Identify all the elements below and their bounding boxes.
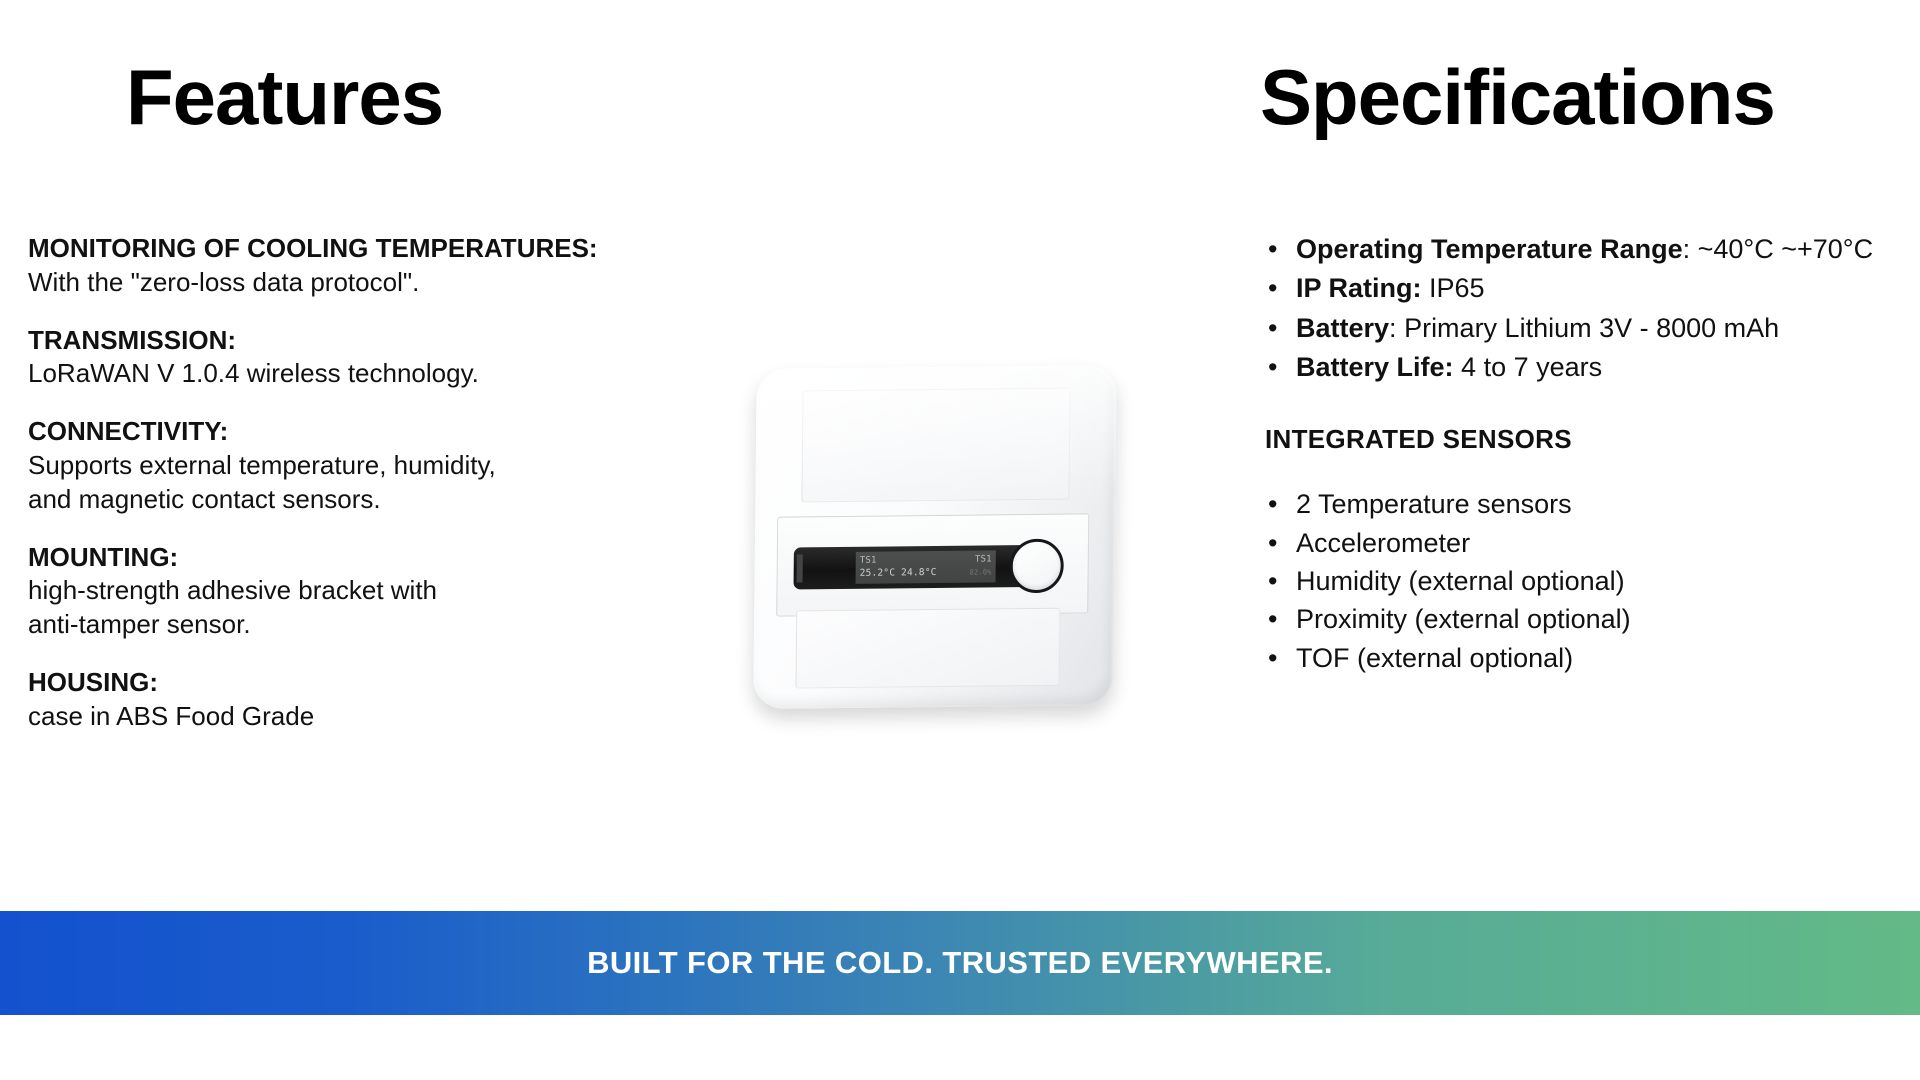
bullet-icon: • (1268, 600, 1277, 638)
sensor-item-humidity: • Humidity (external optional) (1262, 562, 1882, 600)
spec-key: Operating Temperature Range (1296, 234, 1683, 264)
device-display-panel: TS1 TS1 25.2°C 24.8°C 82.0% (776, 513, 1089, 616)
spec-separator (1454, 352, 1462, 382)
feature-block-transmission: TRANSMISSION: LoRaWAN V 1.0.4 wireless t… (28, 324, 728, 392)
specifications-heading: Specifications (1260, 58, 1775, 136)
spec-item-battery: • Battery: Primary Lithium 3V - 8000 mAh (1262, 309, 1882, 347)
device-lcd-tab (797, 554, 803, 582)
sensor-item-proximity: • Proximity (external optional) (1262, 600, 1882, 638)
spec-separator: : (1389, 313, 1404, 343)
bullet-icon: • (1268, 524, 1277, 562)
specifications-content: • Operating Temperature Range: ~40°C ~+7… (1262, 230, 1882, 677)
feature-block-connectivity: CONNECTIVITY: Supports external temperat… (28, 415, 728, 516)
tagline-text: BUILT FOR THE COLD. TRUSTED EVERYWHERE. (587, 945, 1333, 981)
feature-block-mounting: MOUNTING: high-strength adhesive bracket… (28, 541, 728, 642)
lcd-humidity-readout: 82.0% (969, 568, 991, 577)
feature-label: MONITORING OF COOLING TEMPERATURES: (28, 232, 728, 266)
device-push-button[interactable] (1009, 539, 1064, 594)
device-bottom-panel (795, 608, 1060, 689)
sensor-label: Humidity (external optional) (1296, 566, 1625, 596)
spec-value: ~40°C ~+70°C (1698, 234, 1873, 264)
bullet-icon: • (1268, 485, 1277, 523)
feature-description: high-strength adhesive bracket with anti… (28, 574, 728, 642)
features-list: MONITORING OF COOLING TEMPERATURES: With… (28, 232, 728, 734)
integrated-sensors-heading: INTEGRATED SENSORS (1265, 424, 1882, 455)
sensor-item-tof: • TOF (external optional) (1262, 639, 1882, 677)
spec-item-operating-temperature: • Operating Temperature Range: ~40°C ~+7… (1262, 230, 1882, 268)
spec-value: IP65 (1429, 273, 1485, 303)
bullet-icon: • (1268, 562, 1277, 600)
sensor-label: Proximity (external optional) (1296, 604, 1631, 634)
feature-label: MOUNTING: (28, 541, 728, 575)
spec-value: 4 to 7 years (1461, 352, 1602, 382)
sensor-item-temperature: • 2 Temperature sensors (1262, 485, 1882, 523)
feature-description: LoRaWAN V 1.0.4 wireless technology. (28, 357, 728, 391)
feature-description: case in ABS Food Grade (28, 700, 728, 734)
device-top-panel (801, 388, 1070, 503)
bullet-icon: • (1268, 269, 1277, 307)
spec-key: Battery (1296, 313, 1389, 343)
lcd-temperature-readout: 25.2°C 24.8°C (860, 567, 937, 580)
device-lcd-bar: TS1 TS1 25.2°C 24.8°C 82.0% (793, 545, 1029, 589)
feature-label: CONNECTIVITY: (28, 415, 728, 449)
feature-block-monitoring: MONITORING OF COOLING TEMPERATURES: With… (28, 232, 728, 300)
spec-value: Primary Lithium 3V - 8000 mAh (1404, 313, 1779, 343)
sensor-label: 2 Temperature sensors (1296, 489, 1572, 519)
specifications-list: • Operating Temperature Range: ~40°C ~+7… (1262, 230, 1882, 386)
feature-label: HOUSING: (28, 666, 728, 700)
spec-key: Battery Life: (1296, 352, 1454, 382)
sensor-label: Accelerometer (1296, 528, 1470, 558)
spec-item-ip-rating: • IP Rating: IP65 (1262, 269, 1882, 307)
spec-item-battery-life: • Battery Life: 4 to 7 years (1262, 348, 1882, 386)
device-image: TS1 TS1 25.2°C 24.8°C 82.0% (745, 355, 1205, 805)
bullet-icon: • (1268, 348, 1277, 386)
bullet-icon: • (1268, 309, 1277, 347)
device-lcd-screen: TS1 TS1 25.2°C 24.8°C 82.0% (856, 550, 996, 583)
spec-key: IP Rating: (1296, 273, 1422, 303)
spec-separator (1422, 273, 1430, 303)
spec-separator: : (1683, 234, 1698, 264)
device-enclosure: TS1 TS1 25.2°C 24.8°C 82.0% (753, 365, 1117, 709)
feature-block-housing: HOUSING: case in ABS Food Grade (28, 666, 728, 734)
feature-description: With the "zero-loss data protocol". (28, 266, 728, 300)
sensor-label: TOF (external optional) (1296, 643, 1573, 673)
features-heading: Features (126, 58, 443, 136)
tagline-banner: BUILT FOR THE COLD. TRUSTED EVERYWHERE. (0, 911, 1920, 1015)
lcd-top-left-label: TS1 (860, 556, 877, 567)
bullet-icon: • (1268, 639, 1277, 677)
integrated-sensors-list: • 2 Temperature sensors • Accelerometer … (1262, 485, 1882, 677)
slide-canvas: Features MONITORING OF COOLING TEMPERATU… (0, 0, 1920, 1080)
bullet-icon: • (1268, 230, 1277, 268)
sensor-item-accelerometer: • Accelerometer (1262, 524, 1882, 562)
feature-description: Supports external temperature, humidity,… (28, 449, 728, 517)
feature-label: TRANSMISSION: (28, 324, 728, 358)
lcd-top-right-label: TS1 (975, 555, 992, 566)
